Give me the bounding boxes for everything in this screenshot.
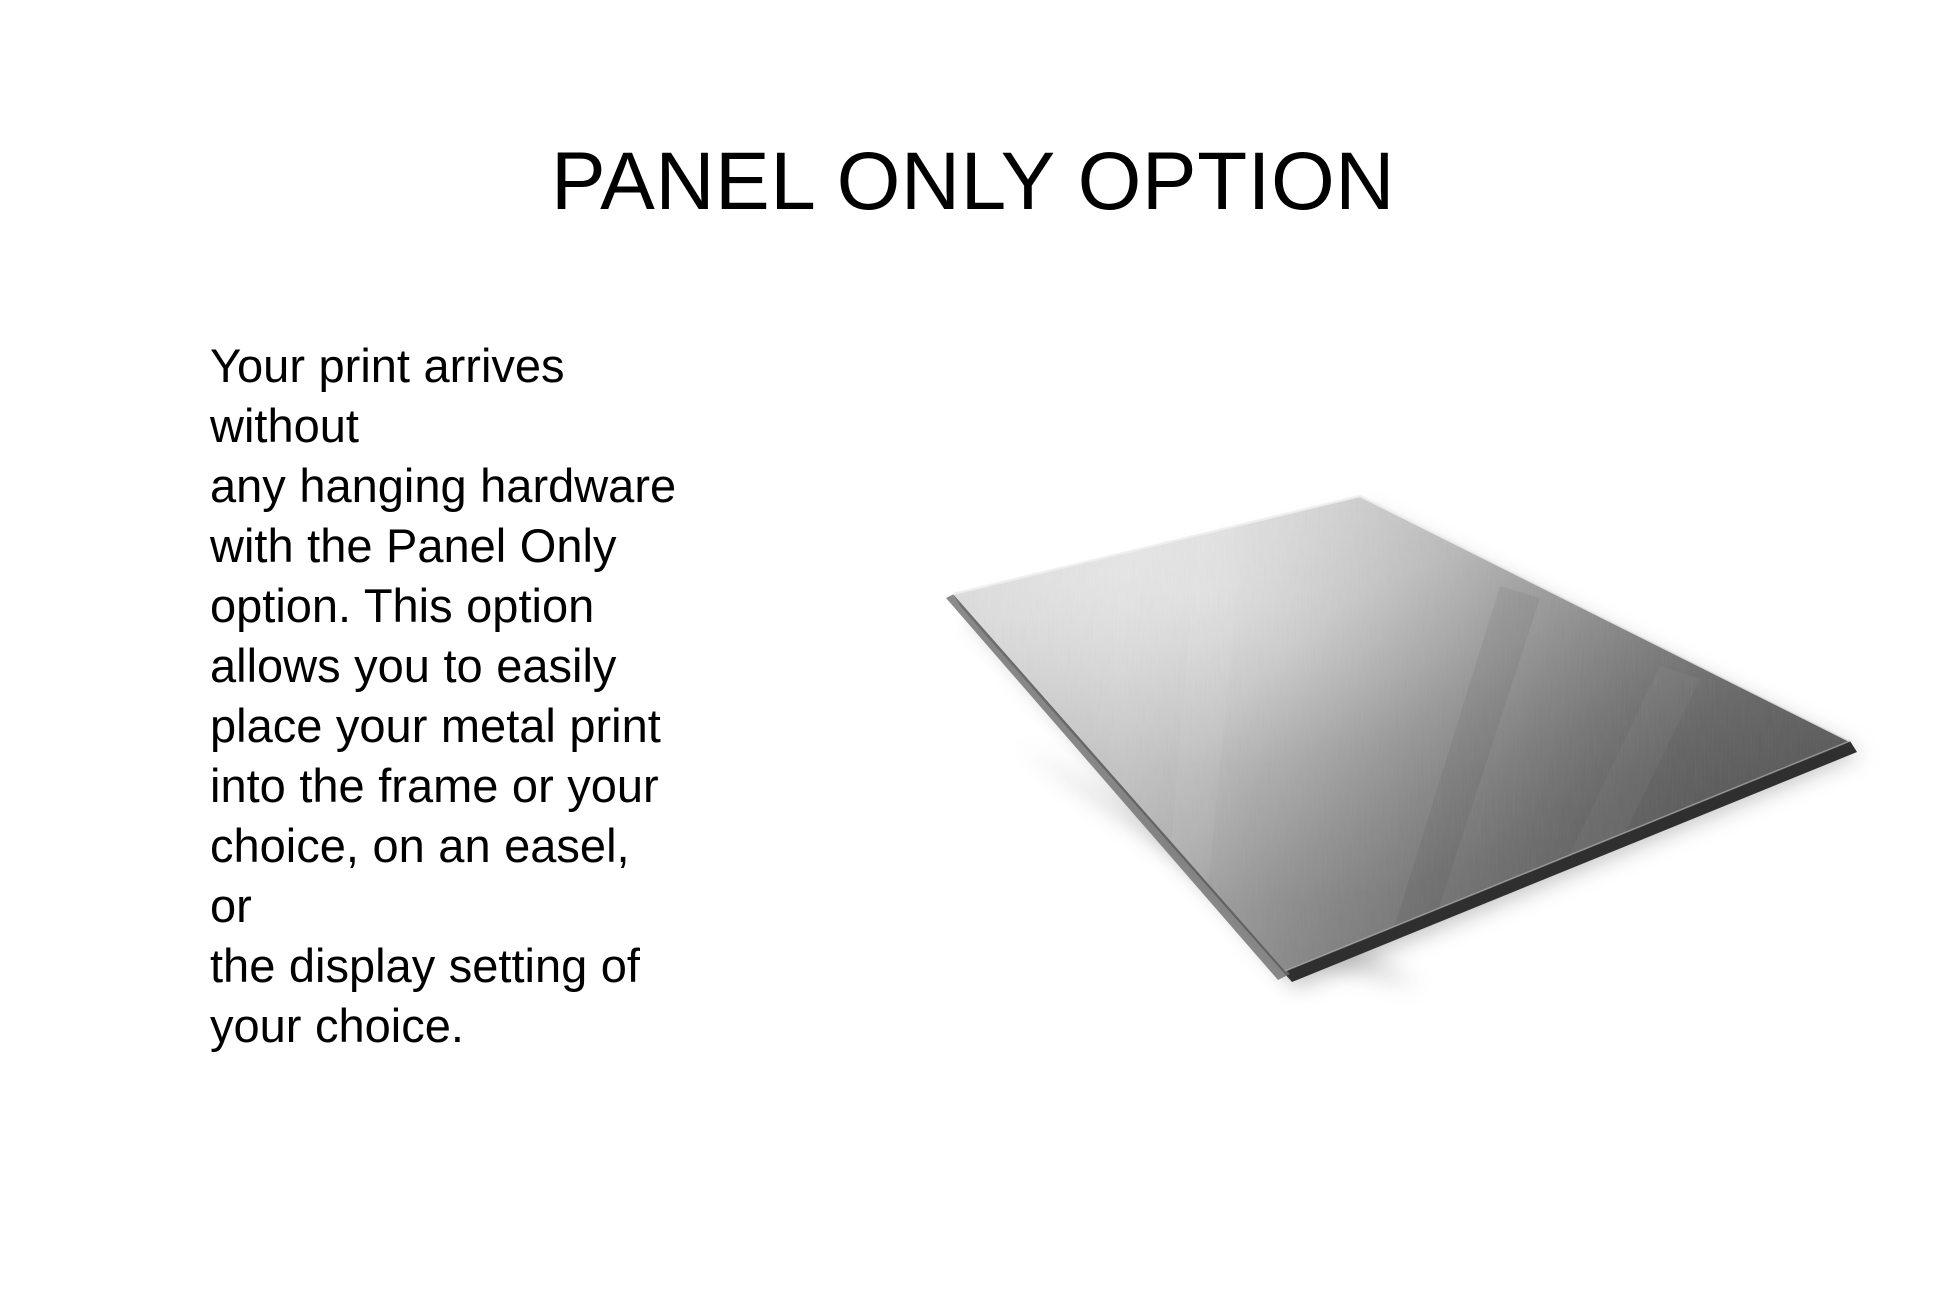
body-line: the display setting of (210, 936, 680, 996)
metal-panel-illustration (900, 446, 1910, 1016)
body-line: Your print arrives without (210, 336, 680, 456)
slide-canvas: PANEL ONLY OPTION Your print arrives wit… (0, 0, 1946, 1297)
body-line: place your metal print (210, 696, 680, 756)
body-line: any hanging hardware (210, 456, 680, 516)
body-line: with the Panel Only (210, 516, 680, 576)
body-line: option. This option (210, 576, 680, 636)
metal-panel-image (900, 446, 1910, 1016)
body-line: choice, on an easel, or (210, 816, 680, 936)
body-text-block: Your print arrives without any hanging h… (210, 336, 680, 1056)
body-line: into the frame or your (210, 756, 680, 816)
body-line: allows you to easily (210, 636, 680, 696)
body-line: your choice. (210, 996, 680, 1056)
page-title: PANEL ONLY OPTION (0, 139, 1946, 225)
